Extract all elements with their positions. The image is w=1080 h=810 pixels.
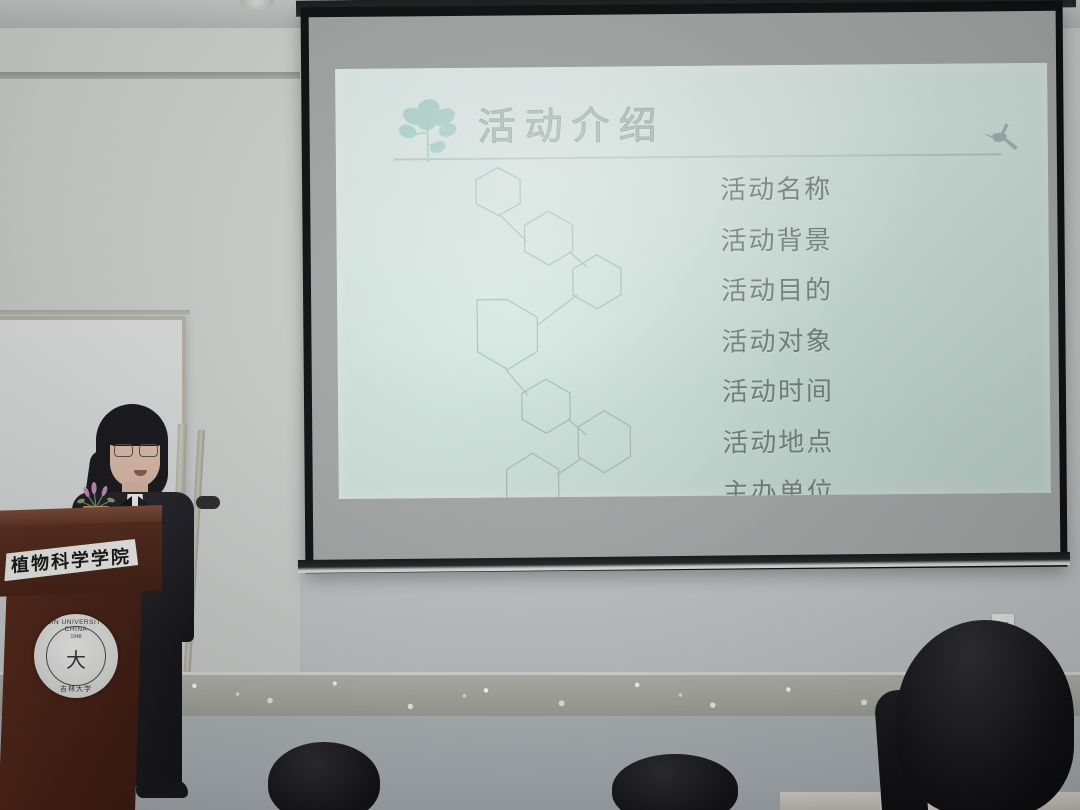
wall-molding-upper <box>0 72 300 79</box>
list-item: 活动对象 <box>721 315 1021 368</box>
audience-head <box>896 620 1074 810</box>
presenter-hair-fringe <box>104 412 166 446</box>
wall-molding-lower <box>0 310 190 315</box>
podium: 植物科学学院 JILIN UNIVERSITY · CHINA 1948 大 吉… <box>0 508 162 810</box>
seal-arc-text: JILIN UNIVERSITY · CHINA <box>34 619 118 633</box>
lecture-hall-scene: 活动介绍 <box>0 0 1080 810</box>
hexagon-chain-decoration <box>456 162 689 499</box>
seal-bottom-text: 吉林大学 <box>34 684 118 694</box>
list-item: 活动时间 <box>722 365 1022 418</box>
title-divider-rule <box>394 153 1002 160</box>
university-seal: JILIN UNIVERSITY · CHINA 1948 大 吉林大学 <box>34 614 118 698</box>
slide-title: 活动介绍 <box>477 94 665 151</box>
list-item: 活动名称 <box>720 163 1020 216</box>
list-item: 活动地点 <box>722 416 1022 469</box>
slide-bullet-list: 活动名称 活动背景 活动目的 活动对象 活动时间 活动地点 主办单位 <box>720 163 1023 499</box>
seal-center-glyph: 大 <box>34 644 118 673</box>
presentation-slide: 活动介绍 <box>335 63 1051 499</box>
slide-header: 活动介绍 <box>393 81 1004 168</box>
hummingbird-icon <box>982 121 1022 153</box>
presenter-glasses <box>114 444 158 456</box>
seal-year: 1948 <box>34 634 118 640</box>
screen-surface: 活动介绍 <box>309 11 1061 560</box>
list-item: 活动目的 <box>721 264 1021 317</box>
list-item: 活动背景 <box>720 214 1020 267</box>
plant-sprout-icon <box>393 92 464 165</box>
projection-screen: 活动介绍 <box>301 1 1068 574</box>
list-item: 主办单位 <box>723 466 1023 499</box>
